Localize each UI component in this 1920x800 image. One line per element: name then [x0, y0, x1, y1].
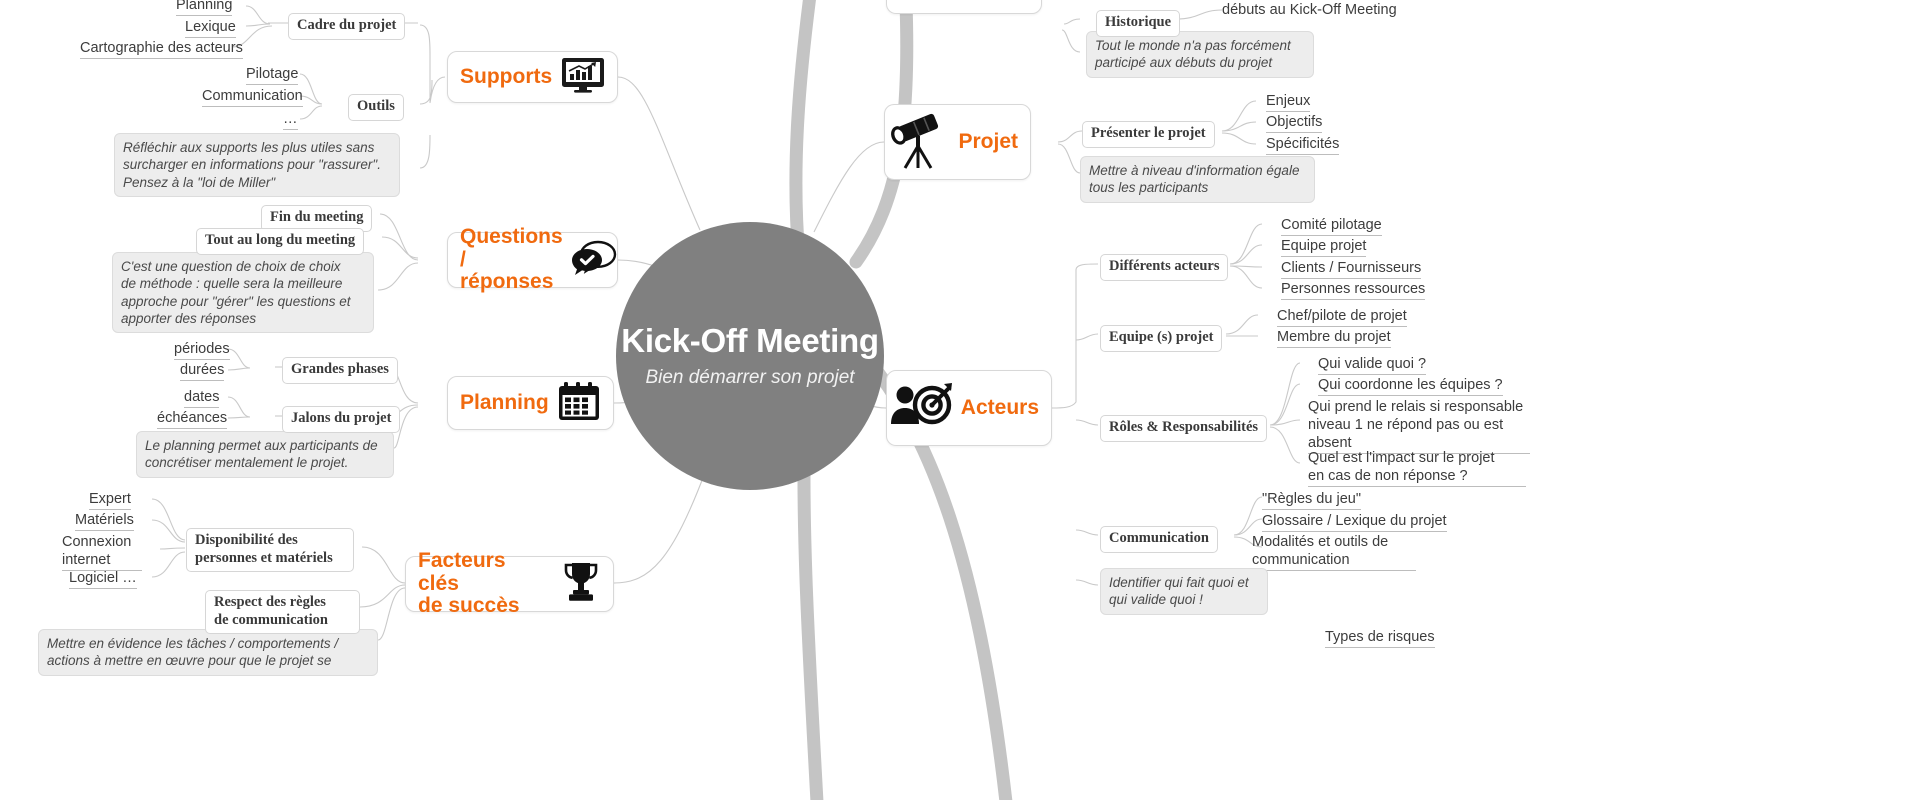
branch-facteurs-cles[interactable]: Facteurs clés de succès [405, 556, 614, 612]
topic-historique[interactable]: Historique [1096, 10, 1180, 37]
leaf-periodes[interactable]: périodes [174, 340, 230, 360]
mindmap-canvas: Kick-Off Meeting Bien démarrer son proje… [0, 0, 1920, 800]
topic-roles-responsabilites[interactable]: Rôles & Responsabilités [1100, 415, 1267, 442]
note-planning: Le planning permet aux participants de c… [136, 431, 394, 478]
calendar-icon [558, 381, 600, 426]
leaf-lexique[interactable]: Lexique [185, 18, 236, 38]
telescope-icon [887, 110, 949, 175]
leaf-impact-non-reponse[interactable]: Quel est l'impact sur le projet en cas d… [1308, 449, 1526, 487]
cropped-top-icon [899, 0, 939, 14]
leaf-expert[interactable]: Expert [89, 490, 131, 510]
branch-questions-label: Questions / réponses [460, 226, 563, 294]
leaf-durees[interactable]: durées [180, 361, 224, 381]
leaf-objectifs[interactable]: Objectifs [1266, 113, 1322, 133]
branch-facteurs-cles-label: Facteurs clés de succès [418, 550, 552, 618]
leaf-dates[interactable]: dates [184, 388, 219, 408]
branch-acteurs-label: Acteurs [961, 397, 1039, 420]
topic-tout-au-long-du-meeting[interactable]: Tout au long du meeting [196, 228, 364, 255]
branch-planning[interactable]: Planning [447, 376, 614, 430]
leaf-chef-pilote-de-projet[interactable]: Chef/pilote de projet [1277, 307, 1407, 327]
branch-questions[interactable]: Questions / réponses [447, 232, 618, 288]
leaf-modalites-outils[interactable]: Modalités et outils de communication [1252, 533, 1416, 571]
branch-supports-label: Supports [460, 66, 552, 89]
leaf-clients-fournisseurs[interactable]: Clients / Fournisseurs [1281, 259, 1421, 279]
leaf-qui-coordonne-les-equipes[interactable]: Qui coordonne les équipes ? [1318, 376, 1503, 396]
leaf-specificites[interactable]: Spécificités [1266, 135, 1339, 155]
topic-outils[interactable]: Outils [348, 94, 404, 121]
note-historique: Tout le monde n'a pas forcément particip… [1086, 31, 1314, 78]
leaf-pilotage[interactable]: Pilotage [246, 65, 298, 85]
branch-supports[interactable]: Supports [447, 51, 618, 103]
leaf-membre-du-projet[interactable]: Membre du projet [1277, 328, 1391, 348]
branch-projet-label: Projet [958, 131, 1018, 154]
leaf-comite-pilotage[interactable]: Comité pilotage [1281, 216, 1382, 236]
people-target-icon [890, 383, 952, 434]
leaf-qui-prend-le-relais[interactable]: Qui prend le relais si responsable nivea… [1308, 398, 1530, 454]
topic-equipe-projet[interactable]: Equipe (s) projet [1100, 325, 1222, 352]
central-node[interactable]: Kick-Off Meeting Bien démarrer son proje… [616, 222, 884, 490]
topic-jalons-du-projet[interactable]: Jalons du projet [282, 406, 400, 433]
leaf-equipe-projet[interactable]: Equipe projet [1281, 237, 1366, 257]
branch-planning-label: Planning [460, 392, 549, 415]
topic-disponibilite[interactable]: Disponibilité des personnes et matériels [186, 528, 354, 572]
leaf-types-de-risques[interactable]: Types de risques [1325, 628, 1435, 648]
leaf-communication[interactable]: Communication [202, 87, 303, 107]
leaf-qui-valide-quoi[interactable]: Qui valide quoi ? [1318, 355, 1426, 375]
note-facteurs-cles: Mettre en évidence les tâches / comporte… [38, 629, 378, 676]
leaf-glossaire-lexique[interactable]: Glossaire / Lexique du projet [1262, 512, 1447, 532]
leaf-historique-debuts[interactable]: débuts au Kick-Off Meeting [1222, 1, 1397, 20]
branch-top-cropped[interactable] [886, 0, 1042, 14]
topic-grandes-phases[interactable]: Grandes phases [282, 357, 398, 384]
note-questions: C'est une question de choix de choix de … [112, 252, 374, 333]
branch-acteurs[interactable]: Acteurs [886, 370, 1052, 446]
leaf-cartographie-des-acteurs[interactable]: Cartographie des acteurs [80, 39, 243, 59]
leaf-planning[interactable]: Planning [176, 0, 232, 16]
central-subtitle: Bien démarrer son projet [645, 367, 854, 390]
speech-bubbles-check-icon [572, 240, 618, 281]
topic-presenter-le-projet[interactable]: Présenter le projet [1082, 121, 1215, 148]
topic-differents-acteurs[interactable]: Différents acteurs [1100, 254, 1228, 281]
topic-communication-acteurs[interactable]: Communication [1100, 526, 1218, 553]
central-title: Kick-Off Meeting [621, 322, 878, 360]
leaf-materiels[interactable]: Matériels [75, 511, 134, 531]
leaf-outils-ellipsis[interactable]: … [283, 110, 298, 130]
note-projet: Mettre à niveau d'information égale tous… [1080, 156, 1315, 203]
leaf-regles-du-jeu[interactable]: "Règles du jeu" [1262, 490, 1361, 510]
leaf-echeances[interactable]: échéances [157, 409, 227, 429]
topic-respect-regles[interactable]: Respect des règles de communication [205, 590, 360, 634]
topic-cadre-du-projet[interactable]: Cadre du projet [288, 13, 405, 40]
presentation-chart-icon [561, 57, 605, 98]
leaf-logiciel[interactable]: Logiciel … [69, 569, 137, 589]
note-acteurs: Identifier qui fait quoi et qui valide q… [1100, 568, 1268, 615]
leaf-personnes-ressources[interactable]: Personnes ressources [1281, 280, 1425, 300]
trophy-icon [561, 561, 601, 608]
leaf-enjeux[interactable]: Enjeux [1266, 92, 1310, 112]
branch-projet[interactable]: Projet [884, 104, 1031, 180]
note-supports: Réfléchir aux supports les plus utiles s… [114, 133, 400, 197]
leaf-connexion-internet[interactable]: Connexion internet [62, 533, 142, 571]
